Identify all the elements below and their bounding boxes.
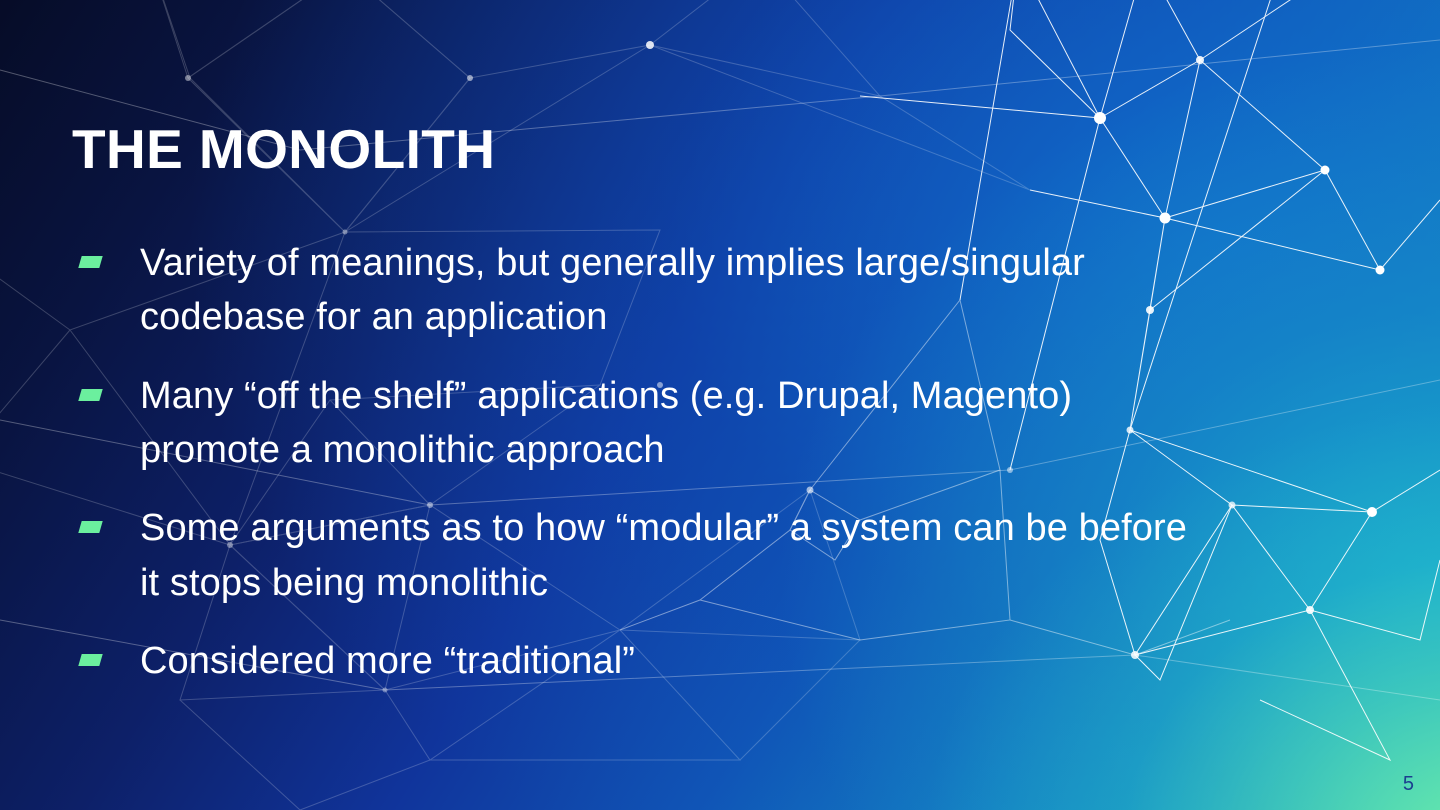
presentation-slide: THE MONOLITH Variety of meanings, but ge… [0, 0, 1440, 810]
bullet-text: Many “off the shelf” applications (e.g. … [140, 369, 1210, 478]
square-bullet-icon [78, 521, 102, 533]
page-number: 5 [1403, 773, 1414, 796]
square-bullet-icon [78, 256, 102, 268]
list-item: Many “off the shelf” applications (e.g. … [80, 369, 1210, 478]
bullet-text: Considered more “traditional” [140, 634, 1210, 688]
list-item: Variety of meanings, but generally impli… [80, 236, 1210, 345]
bullet-text: Variety of meanings, but generally impli… [140, 236, 1210, 345]
bullet-text: Some arguments as to how “modular” a sys… [140, 501, 1210, 610]
list-item: Some arguments as to how “modular” a sys… [80, 501, 1210, 610]
square-bullet-icon [78, 389, 102, 401]
slide-title: THE MONOLITH [72, 120, 495, 179]
list-item: Considered more “traditional” [80, 634, 1210, 688]
square-bullet-icon [78, 654, 102, 666]
bullet-list: Variety of meanings, but generally impli… [80, 236, 1210, 712]
